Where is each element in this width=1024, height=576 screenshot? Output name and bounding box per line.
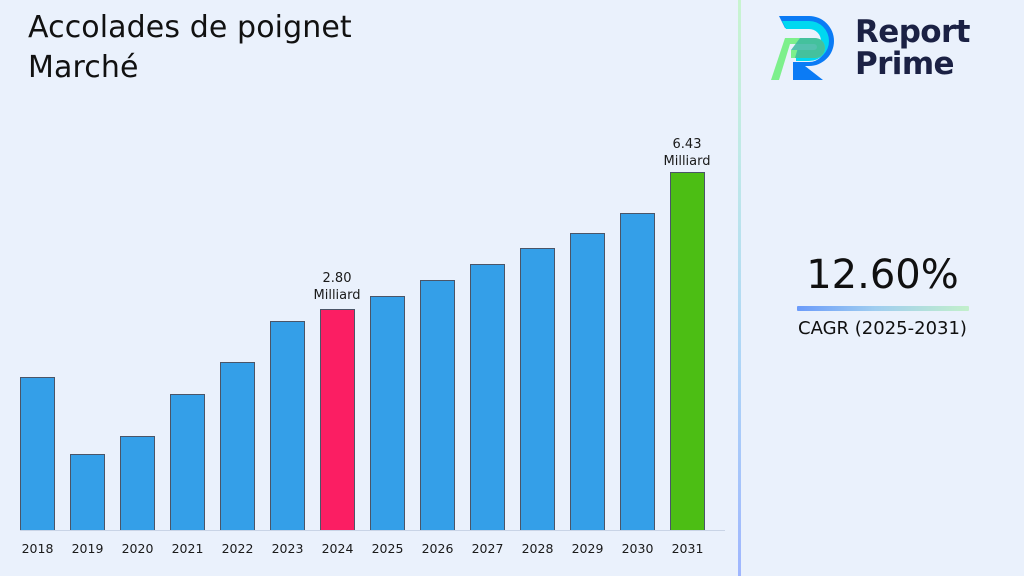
- x-tick-2031: 2031: [670, 541, 705, 556]
- x-tick-2026: 2026: [420, 541, 455, 556]
- bar-2018[interactable]: [20, 377, 55, 530]
- bar-chart: 2.80 Milliard 6.43 Milliard 2018 2019 20…: [0, 0, 739, 576]
- cagr-block: 12.60% CAGR (2025-2031): [741, 252, 1024, 341]
- x-tick-2022: 2022: [220, 541, 255, 556]
- x-tick-2028: 2028: [520, 541, 555, 556]
- x-tick-2021: 2021: [170, 541, 205, 556]
- report-prime-logo: Report Prime: [765, 12, 970, 84]
- x-tick-2025: 2025: [370, 541, 405, 556]
- x-tick-2024: 2024: [320, 541, 355, 556]
- bar-2030[interactable]: [620, 213, 655, 530]
- bar-2027[interactable]: [470, 264, 505, 530]
- x-tick-2019: 2019: [70, 541, 105, 556]
- report-prime-logo-icon: [765, 12, 843, 84]
- bar-2025[interactable]: [370, 296, 405, 530]
- bar-2028[interactable]: [520, 248, 555, 530]
- x-tick-2027: 2027: [470, 541, 505, 556]
- bar-2019[interactable]: [70, 454, 105, 530]
- chart-panel: Accolades de poignet Marché 2.80 Milliar…: [0, 0, 739, 576]
- bar-2020[interactable]: [120, 436, 155, 530]
- bar-value-2031: 6.43 Milliard: [642, 136, 732, 170]
- bar-2021[interactable]: [170, 394, 205, 530]
- x-tick-2029: 2029: [570, 541, 605, 556]
- bar-2023[interactable]: [270, 321, 305, 530]
- bar-2029[interactable]: [570, 233, 605, 530]
- x-tick-2018: 2018: [20, 541, 55, 556]
- x-tick-2020: 2020: [120, 541, 155, 556]
- bar-2024[interactable]: [320, 309, 355, 530]
- bar-2031[interactable]: [670, 172, 705, 530]
- cagr-value: 12.60%: [741, 252, 1024, 298]
- cagr-label: CAGR (2025-2031): [741, 317, 1024, 341]
- info-panel: Report Prime 12.60% CAGR (2025-2031): [741, 0, 1024, 576]
- x-tick-2030: 2030: [620, 541, 655, 556]
- bar-2022[interactable]: [220, 362, 255, 530]
- cagr-divider-rule: [797, 306, 969, 311]
- bar-2026[interactable]: [420, 280, 455, 530]
- x-axis-line: [20, 530, 725, 531]
- logo-wordmark: Report Prime: [855, 16, 970, 80]
- bar-value-2024: 2.80 Milliard: [292, 270, 382, 304]
- x-tick-2023: 2023: [270, 541, 305, 556]
